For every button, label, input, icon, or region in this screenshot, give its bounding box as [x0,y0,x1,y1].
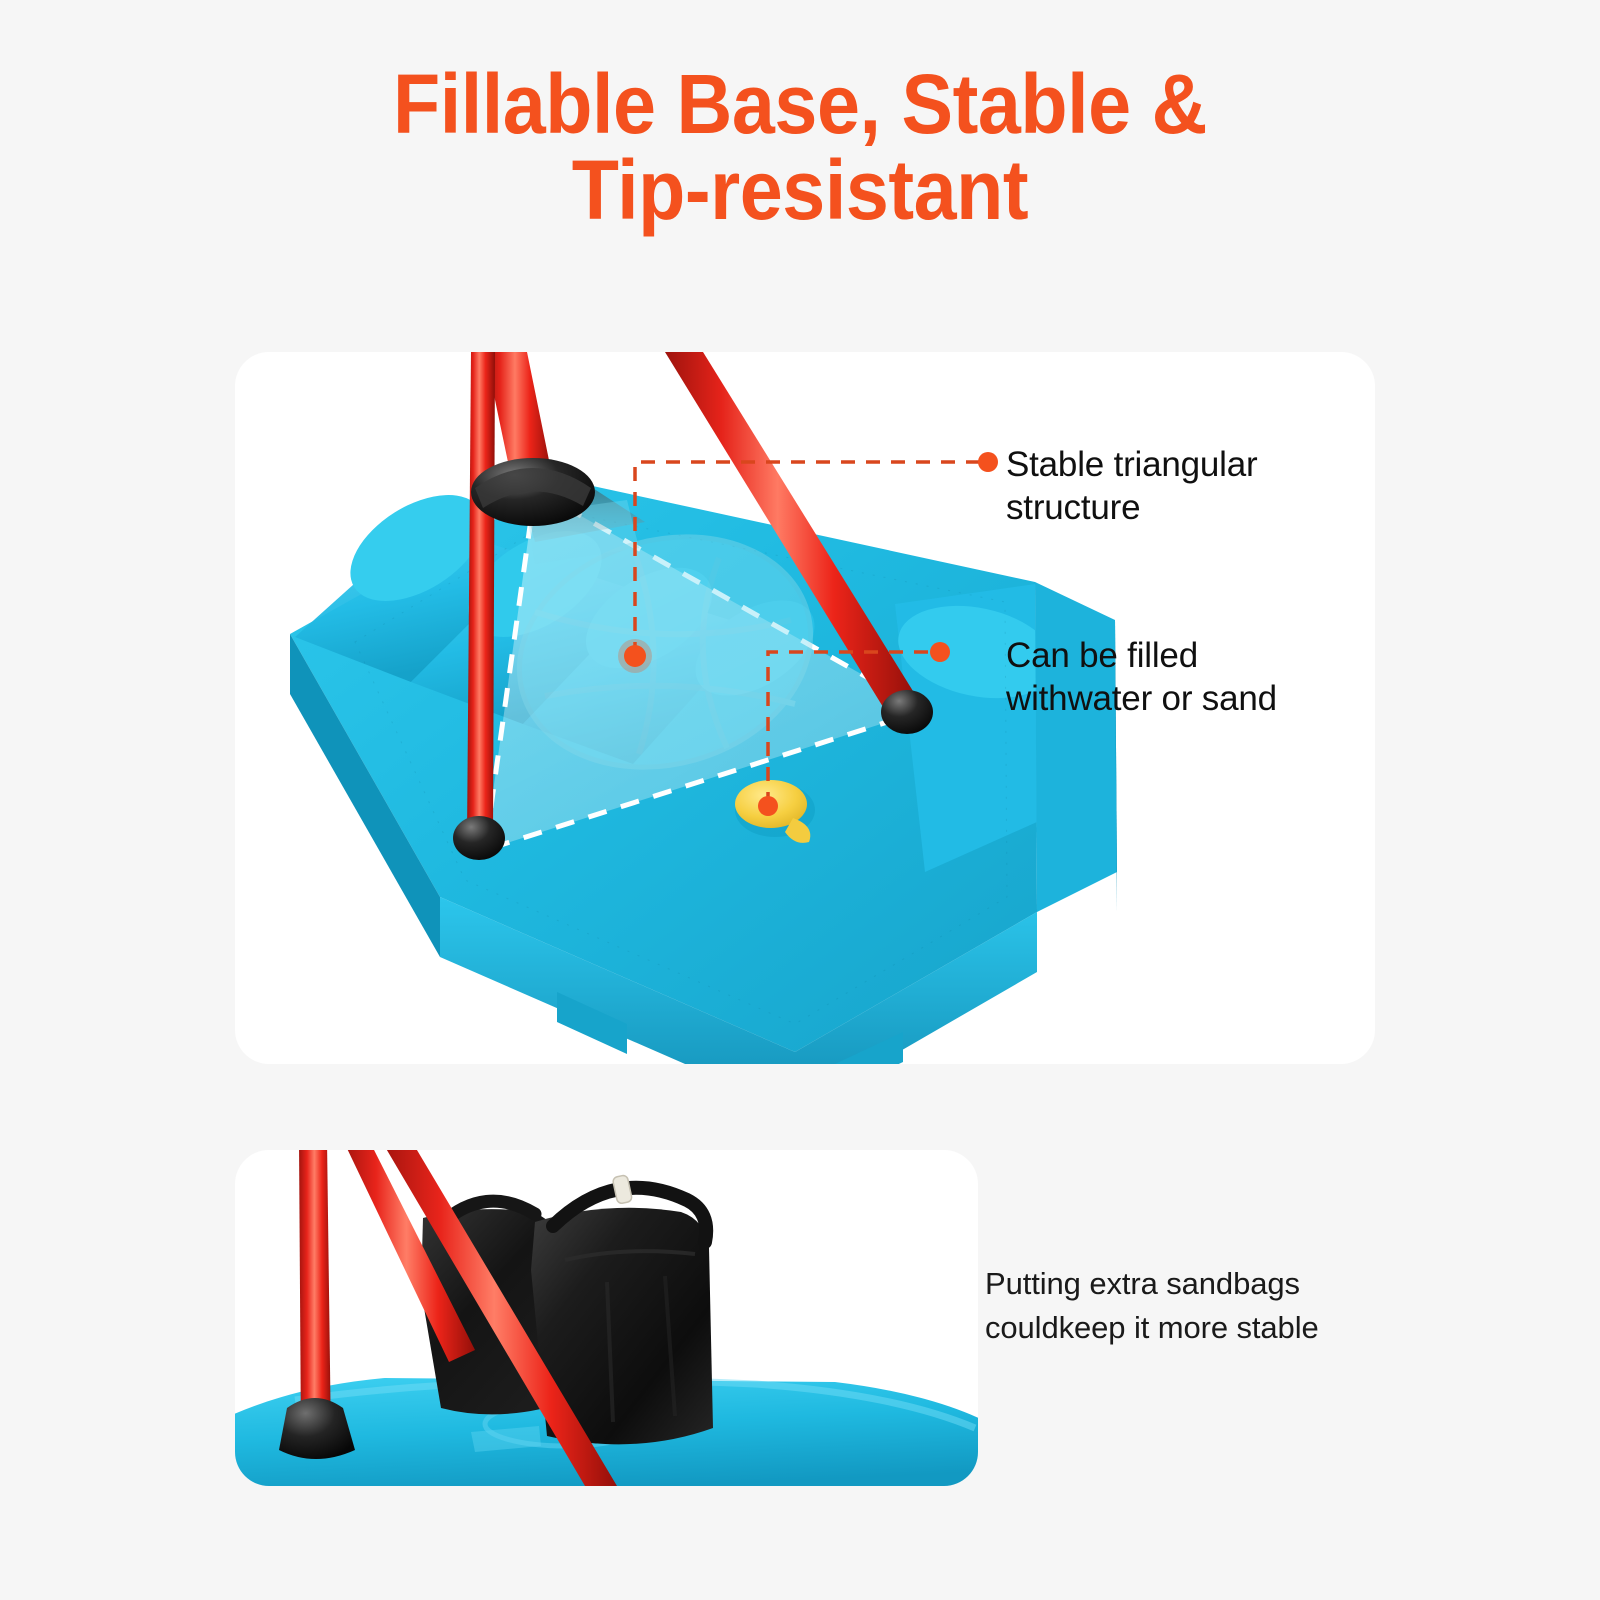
page-title-line-1: Fillable Base, Stable & [64,62,1536,148]
pole-left-support [467,352,495,838]
callout-label-fill-port: Can be filled withwater or sand [1006,634,1346,721]
sandbag-caption: Putting extra sandbags couldkeep it more… [985,1262,1385,1350]
callout-label-triangular-structure: Stable triangular structure [1006,443,1336,530]
sandbag-photo [235,1150,978,1486]
foot-left [453,816,505,860]
feature-card-sandbags [235,1150,978,1486]
cord-lock-toggle [612,1175,632,1205]
page-title-line-2: Tip-resistant [64,148,1536,234]
foot-right [881,690,933,734]
infographic-page: Fillable Base, Stable & Tip-resistant [0,0,1600,1600]
sandbag-illustration [235,1150,978,1486]
page-title: Fillable Base, Stable & Tip-resistant [0,62,1600,233]
